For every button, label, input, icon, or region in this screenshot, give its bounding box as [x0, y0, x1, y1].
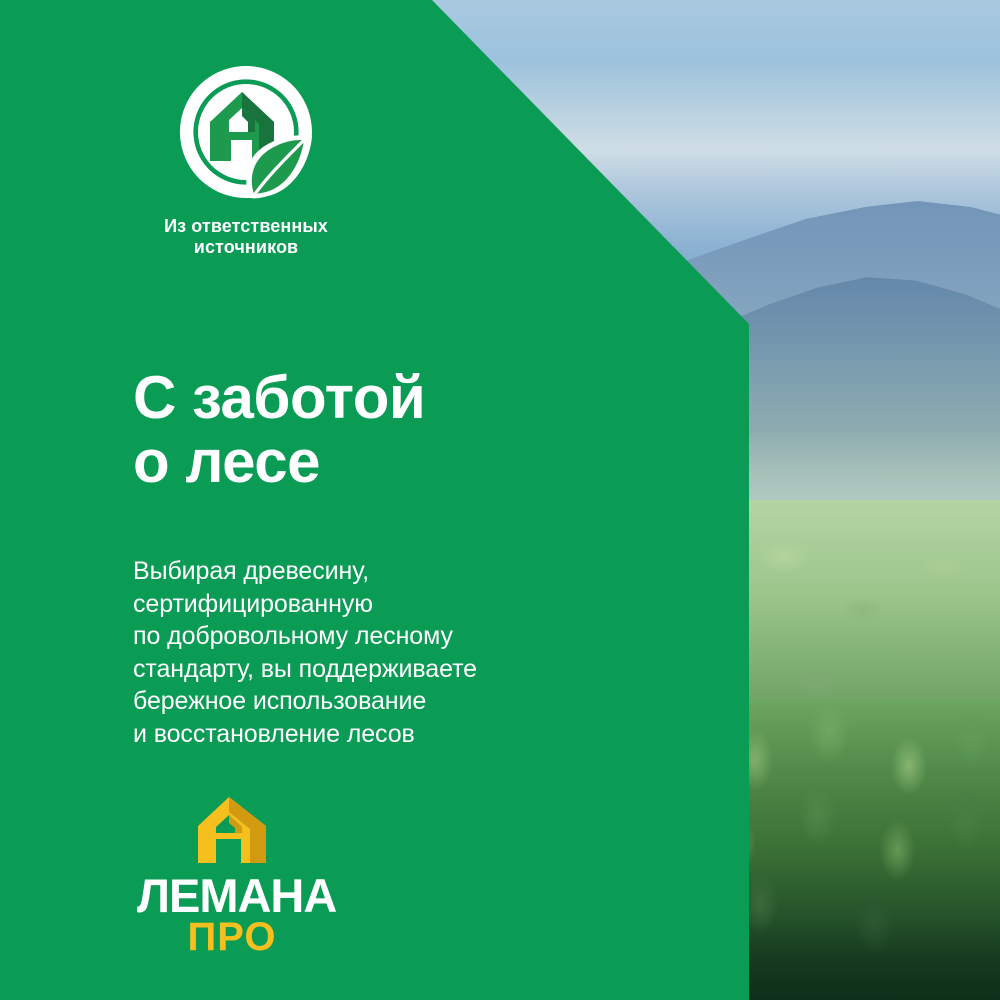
brand-lockup: ЛЕМАНА ПРО [137, 795, 327, 957]
poster-content: Из ответственных источников С заботой о … [0, 0, 749, 1000]
lemana-house-icon [196, 795, 268, 865]
responsible-sources-seal-icon [176, 62, 316, 202]
brand-subtitle: ПРО [137, 917, 327, 957]
badge-caption: Из ответственных источников [156, 216, 336, 258]
responsible-sources-badge: Из ответственных источников [156, 62, 336, 258]
poster: Из ответственных источников С заботой о … [0, 0, 1000, 1000]
brand-name: ЛЕМАНА [137, 873, 327, 919]
page-title: С заботой о лесе [133, 366, 425, 494]
body-paragraph: Выбирая древесину, сертифицированную по … [133, 555, 477, 750]
